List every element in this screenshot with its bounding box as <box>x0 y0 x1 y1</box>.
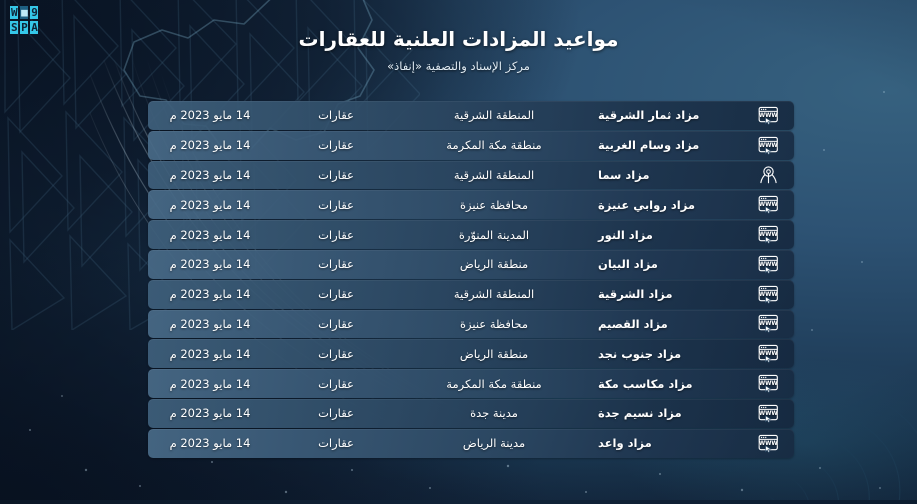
auction-type: عقارات <box>276 108 396 122</box>
auction-name: مزاد وسام الغربية <box>592 138 742 152</box>
svg-text:WWW: WWW <box>758 113 778 119</box>
svg-text:WWW: WWW <box>758 143 778 149</box>
auction-name: مزاد جنوب نجد <box>592 347 742 361</box>
logo-glyph-a: A <box>30 21 38 34</box>
auction-date: 14 مايو 2023 م <box>148 108 276 122</box>
auction-type: عقارات <box>276 406 396 420</box>
auction-name: مزاد نسيم جدة <box>592 406 742 420</box>
auction-date: 14 مايو 2023 م <box>148 168 276 182</box>
browser-www-icon[interactable]: WWW <box>742 314 794 333</box>
auction-region: المدينة المنوّرة <box>396 228 592 242</box>
table-row[interactable]: WWWمزاد ثمار الشرقيةالمنطقة الشرقيةعقارا… <box>148 101 794 130</box>
browser-www-icon[interactable]: WWW <box>742 374 794 393</box>
auction-date: 14 مايو 2023 م <box>148 406 276 420</box>
auction-type: عقارات <box>276 257 396 271</box>
auction-name: مزاد الشرقية <box>592 287 742 301</box>
footer-bar <box>0 500 917 504</box>
table-row[interactable]: WWWمزاد روابي عنيزةمحافظة عنيزةعقارات14 … <box>148 190 794 219</box>
auction-type: عقارات <box>276 287 396 301</box>
auction-date: 14 مايو 2023 م <box>148 228 276 242</box>
page-title: مواعيد المزادات العلنية للعقارات <box>0 26 917 53</box>
auction-type: عقارات <box>276 317 396 331</box>
svg-text:WWW: WWW <box>758 202 778 208</box>
auction-date: 14 مايو 2023 م <box>148 257 276 271</box>
logo-glyph-s: S <box>10 21 18 34</box>
auction-type: عقارات <box>276 198 396 212</box>
auction-region: مدينة جدة <box>396 406 592 420</box>
auction-date: 14 مايو 2023 م <box>148 377 276 391</box>
svg-text:WWW: WWW <box>758 381 778 387</box>
auction-name: مزاد روابي عنيزة <box>592 198 742 212</box>
auction-region: منطقة مكة المكرمة <box>396 377 592 391</box>
auction-region: منطقة مكة المكرمة <box>396 138 592 152</box>
auction-name: مزاد البيان <box>592 257 742 271</box>
browser-www-icon[interactable]: WWW <box>742 404 794 423</box>
table-row[interactable]: WWWمزاد جنوب نجدمنطقة الرياضعقارات14 ماي… <box>148 339 794 368</box>
auction-type: عقارات <box>276 347 396 361</box>
table-row[interactable]: مزاد سماالمنطقة الشرقيةعقارات14 مايو 202… <box>148 161 794 190</box>
auction-name: مزاد سما <box>592 168 742 182</box>
auction-date: 14 مايو 2023 م <box>148 138 276 152</box>
auction-region: المنطقة الشرقية <box>396 287 592 301</box>
auction-date: 14 مايو 2023 م <box>148 347 276 361</box>
auction-region: مدينة الرياض <box>396 436 592 450</box>
logo-latin-row: S P A <box>10 21 56 34</box>
svg-text:WWW: WWW <box>758 411 778 417</box>
auction-schedule-table: WWWمزاد ثمار الشرقيةالمنطقة الشرقيةعقارا… <box>148 101 794 458</box>
spa-logo[interactable]: W ■ 9 S P A <box>10 6 56 36</box>
auction-date: 14 مايو 2023 م <box>148 317 276 331</box>
auction-type: عقارات <box>276 168 396 182</box>
table-row[interactable]: WWWمزاد مكاسب مكةمنطقة مكة المكرمةعقارات… <box>148 369 794 398</box>
browser-www-icon[interactable]: WWW <box>742 225 794 244</box>
auction-name: مزاد القصيم <box>592 317 742 331</box>
page-subtitle: مركز الإسناد والتصفية «إنفاذ» <box>0 59 917 73</box>
svg-text:WWW: WWW <box>758 292 778 298</box>
auction-region: محافظة عنيزة <box>396 198 592 212</box>
table-row[interactable]: WWWمزاد نسيم جدةمدينة جدةعقارات14 مايو 2… <box>148 399 794 428</box>
auction-type: عقارات <box>276 228 396 242</box>
browser-www-icon[interactable]: WWW <box>742 344 794 363</box>
logo-glyph-sad: 9 <box>30 6 38 19</box>
table-row[interactable]: WWWمزاد واعدمدينة الرياضعقارات14 مايو 20… <box>148 429 794 458</box>
auction-region: منطقة الرياض <box>396 257 592 271</box>
logo-arabic-row: W ■ 9 <box>10 6 56 19</box>
auction-type: عقارات <box>276 138 396 152</box>
auction-name: مزاد النور <box>592 228 742 242</box>
logo-glyph-p: P <box>20 21 28 34</box>
svg-text:WWW: WWW <box>758 232 778 238</box>
browser-www-icon[interactable]: WWW <box>742 434 794 453</box>
auction-date: 14 مايو 2023 م <box>148 436 276 450</box>
logo-glyph-emblem: ■ <box>20 6 28 19</box>
infographic-canvas: W ■ 9 S P A مواعيد المزادات العلنية للعق… <box>0 0 917 504</box>
auction-region: منطقة الرياض <box>396 347 592 361</box>
auction-region: محافظة عنيزة <box>396 317 592 331</box>
table-row[interactable]: WWWمزاد القصيممحافظة عنيزةعقارات14 مايو … <box>148 310 794 339</box>
table-row[interactable]: WWWمزاد البيانمنطقة الرياضعقارات14 مايو … <box>148 250 794 279</box>
table-row[interactable]: WWWمزاد النورالمدينة المنوّرةعقارات14 ما… <box>148 220 794 249</box>
browser-www-icon[interactable]: WWW <box>742 255 794 274</box>
auction-name: مزاد ثمار الشرقية <box>592 108 742 122</box>
table-row[interactable]: WWWمزاد الشرقيةالمنطقة الشرقيةعقارات14 م… <box>148 280 794 309</box>
browser-www-icon[interactable]: WWW <box>742 195 794 214</box>
auction-region: المنطقة الشرقية <box>396 108 592 122</box>
header: مواعيد المزادات العلنية للعقارات مركز ال… <box>0 26 917 73</box>
auction-region: المنطقة الشرقية <box>396 168 592 182</box>
auction-date: 14 مايو 2023 م <box>148 198 276 212</box>
auction-name: مزاد مكاسب مكة <box>592 377 742 391</box>
browser-www-icon[interactable]: WWW <box>742 136 794 155</box>
svg-text:WWW: WWW <box>758 322 778 328</box>
table-row[interactable]: WWWمزاد وسام الغربيةمنطقة مكة المكرمةعقا… <box>148 131 794 160</box>
logo-glyph-waw: W <box>10 6 18 19</box>
svg-text:WWW: WWW <box>758 262 778 268</box>
location-pin-icon[interactable] <box>742 165 794 184</box>
auction-date: 14 مايو 2023 م <box>148 287 276 301</box>
svg-text:WWW: WWW <box>758 441 778 447</box>
auction-type: عقارات <box>276 436 396 450</box>
auction-name: مزاد واعد <box>592 436 742 450</box>
svg-text:WWW: WWW <box>758 351 778 357</box>
browser-www-icon[interactable]: WWW <box>742 285 794 304</box>
browser-www-icon[interactable]: WWW <box>742 106 794 125</box>
auction-type: عقارات <box>276 377 396 391</box>
